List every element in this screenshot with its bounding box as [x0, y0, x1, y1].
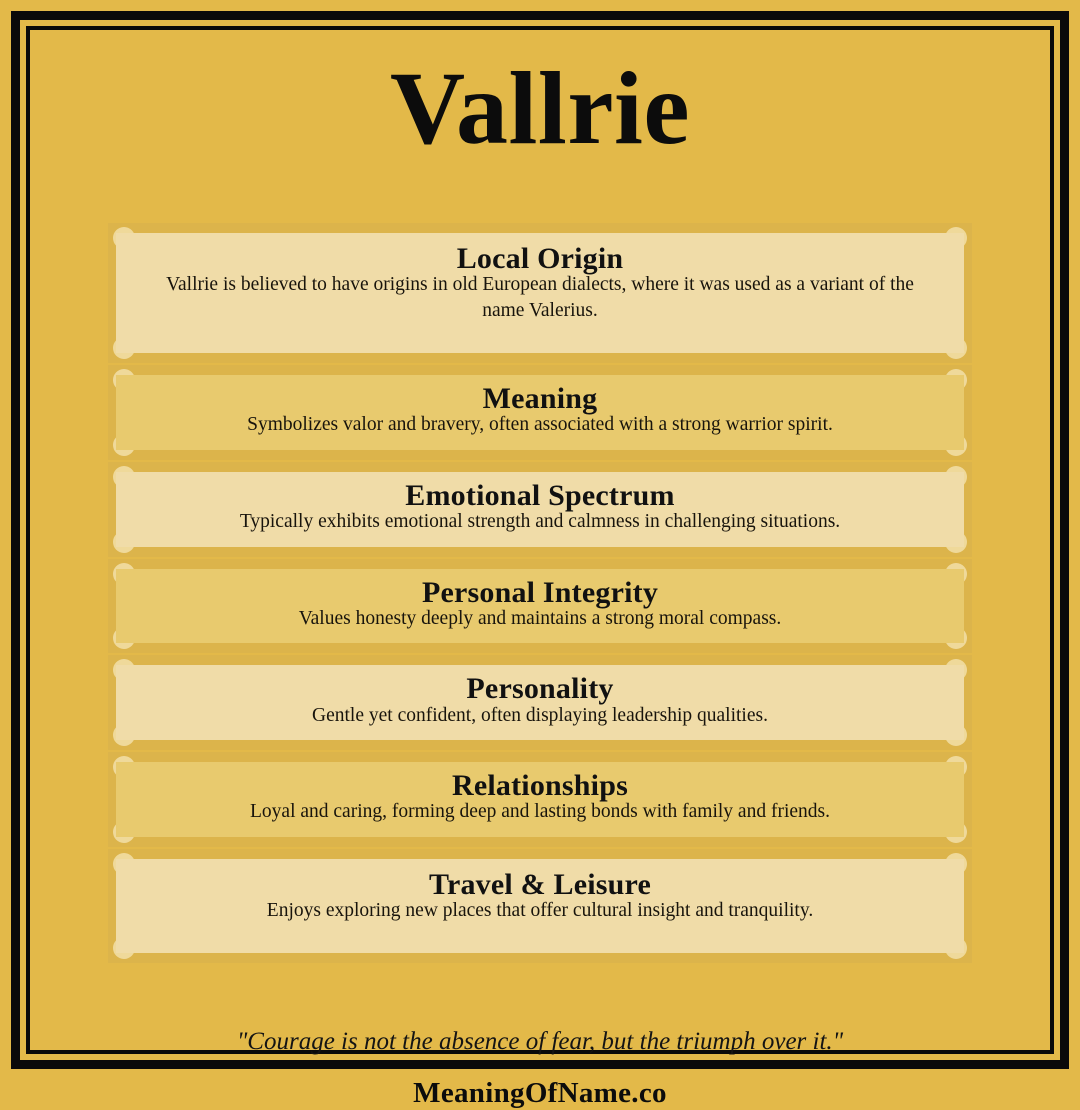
brand-name: MeaningOfName.co [30, 1077, 1050, 1110]
sections-list: Local Origin Vallrie is believed to have… [108, 223, 972, 963]
section-description: Gentle yet confident, often displaying l… [150, 703, 930, 728]
name-meaning-poster: Vallrie Local Origin Vallrie is believed… [0, 0, 1080, 1080]
footer-quote: "Courage is not the absence of fear, but… [30, 1027, 1050, 1057]
section-heading: Local Origin [150, 243, 930, 275]
section-card-personal-integrity: Personal Integrity Values honesty deeply… [108, 559, 972, 654]
section-heading: Emotional Spectrum [150, 480, 930, 512]
section-card-local-origin: Local Origin Vallrie is believed to have… [108, 223, 972, 363]
page-title: Vallrie [30, 57, 1050, 161]
section-card-body: Meaning Symbolizes valor and bravery, of… [116, 375, 964, 450]
section-card-body: Relationships Loyal and caring, forming … [116, 762, 964, 837]
section-card-body: Personality Gentle yet confident, often … [116, 665, 964, 740]
section-description: Values honesty deeply and maintains a st… [150, 606, 930, 631]
section-card-body: Personal Integrity Values honesty deeply… [116, 569, 964, 644]
section-description: Loyal and caring, forming deep and lasti… [150, 799, 930, 824]
section-card-meaning: Meaning Symbolizes valor and bravery, of… [108, 365, 972, 460]
section-heading: Meaning [150, 383, 930, 415]
section-description: Vallrie is believed to have origins in o… [150, 272, 930, 323]
section-card-personality: Personality Gentle yet confident, often … [108, 655, 972, 750]
section-heading: Relationships [150, 770, 930, 802]
section-description: Typically exhibits emotional strength an… [150, 509, 930, 534]
section-description: Symbolizes valor and bravery, often asso… [150, 412, 930, 437]
section-card-body: Emotional Spectrum Typically exhibits em… [116, 472, 964, 547]
section-heading: Personal Integrity [150, 577, 930, 609]
section-description: Enjoys exploring new places that offer c… [150, 898, 930, 923]
section-card-relationships: Relationships Loyal and caring, forming … [108, 752, 972, 847]
section-card-body: Travel & Leisure Enjoys exploring new pl… [116, 859, 964, 954]
section-card-body: Local Origin Vallrie is believed to have… [116, 233, 964, 353]
section-card-travel-and-leisure: Travel & Leisure Enjoys exploring new pl… [108, 849, 972, 964]
section-heading: Personality [150, 673, 930, 705]
poster-footer: "Courage is not the absence of fear, but… [30, 1027, 1050, 1110]
section-card-emotional-spectrum: Emotional Spectrum Typically exhibits em… [108, 462, 972, 557]
poster-content: Vallrie Local Origin Vallrie is believed… [30, 30, 1050, 1050]
section-heading: Travel & Leisure [150, 869, 930, 901]
